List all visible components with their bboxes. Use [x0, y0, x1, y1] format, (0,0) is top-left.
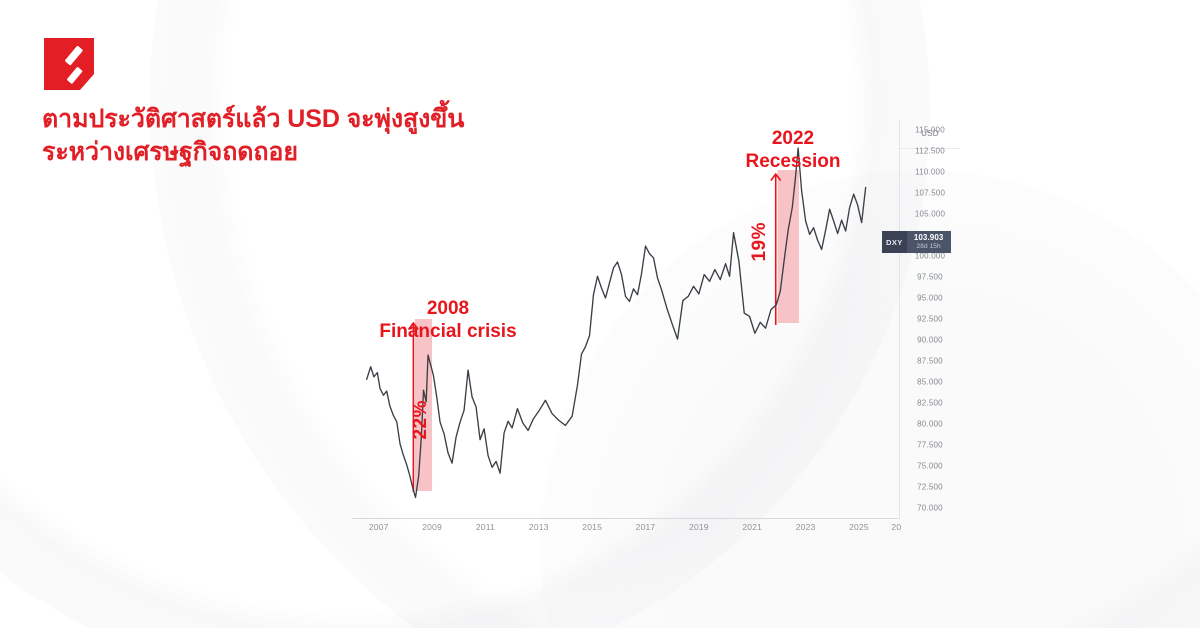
price-scale-tick-label: 77.500: [900, 440, 960, 449]
price-scale-tick-label: 105.000: [900, 210, 960, 219]
last-price-badge[interactable]: DXY 103.903 28d 15h: [882, 231, 951, 253]
x-axis-tick-label: 20: [891, 522, 901, 532]
price-scale-tick-label: 90.000: [900, 335, 960, 344]
annotation-year: 2022: [713, 127, 873, 150]
annotation-crisis-2008: 2008 Financial crisis: [368, 297, 528, 343]
price-scale-tick-label: 72.500: [900, 482, 960, 491]
poster-canvas: ตามประวัติศาสตร์แล้ว USD จะพุ่งสูงขึ้น ร…: [0, 0, 1200, 628]
price-scale-tick-label: 70.000: [900, 503, 960, 512]
x-axis-line: [352, 518, 898, 519]
gain-label-2008: 22%: [410, 400, 432, 440]
price-scale-tick-label: 87.500: [900, 356, 960, 365]
x-axis-tick-label: 2021: [742, 522, 762, 532]
price-scale-tick-label: 97.500: [900, 273, 960, 282]
price-scale-tick-label: 107.500: [900, 189, 960, 198]
x-axis-tick-label: 2017: [636, 522, 656, 532]
badge-symbol: DXY: [882, 231, 907, 253]
x-axis-tick-label: 2019: [689, 522, 709, 532]
price-scale-tick-label: 115.000: [900, 126, 960, 135]
price-scale-tick-label: 80.000: [900, 419, 960, 428]
x-axis-tick-label: 2015: [582, 522, 602, 532]
gain-label-2022: 19%: [749, 222, 771, 262]
price-scale-tick-label: 85.000: [900, 377, 960, 386]
price-scale-tick-label: 112.500: [900, 147, 960, 156]
price-scale-tick-label: 95.000: [900, 294, 960, 303]
annotation-event: Recession: [713, 150, 873, 173]
badge-price: 103.903: [914, 234, 944, 243]
annotation-event: Financial crisis: [368, 320, 528, 343]
badge-value-group: 103.903 28d 15h: [907, 231, 951, 253]
highlight-band: [778, 170, 799, 323]
x-axis-tick-label: 2023: [796, 522, 816, 532]
badge-countdown: 28d 15h: [917, 243, 941, 250]
x-axis-tick-label: 2007: [369, 522, 389, 532]
price-scale-tick-label: 92.500: [900, 315, 960, 324]
x-axis-tick-label: 2009: [422, 522, 442, 532]
price-scale[interactable]: USD 115.000112.500110.000107.500105.0001…: [899, 120, 959, 520]
price-scale-tick-label: 100.000: [900, 252, 960, 261]
price-scale-tick-label: 75.000: [900, 461, 960, 470]
x-axis-tick-label: 2013: [529, 522, 549, 532]
x-axis-tick-label: 2025: [849, 522, 869, 532]
price-scale-tick-label: 110.000: [900, 168, 960, 177]
annotation-recession-2022: 2022 Recession: [713, 127, 873, 173]
brand-logo-icon: [44, 38, 94, 90]
x-axis-tick-label: 2011: [476, 522, 495, 532]
annotation-year: 2008: [368, 297, 528, 320]
price-scale-tick-label: 82.500: [900, 398, 960, 407]
